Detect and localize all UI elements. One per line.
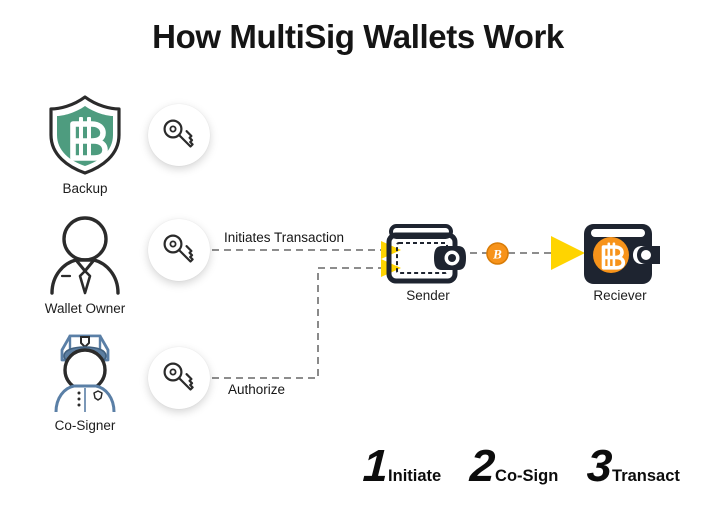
node-sender-label: Sender xyxy=(386,288,470,303)
person-icon xyxy=(26,213,144,297)
wire-authorize xyxy=(212,268,381,378)
actor-backup: Backup xyxy=(26,93,144,196)
step-2-number: 2 xyxy=(469,443,495,488)
steps-legend: 1 Initiate 2 Co-Sign 3 Transact xyxy=(355,443,695,499)
step-2-label: Co-Sign xyxy=(495,467,558,486)
node-receiver xyxy=(580,222,660,293)
key-badge-wallet-owner xyxy=(148,219,210,281)
infographic-canvas: How MultiSig Wallets Work xyxy=(0,0,716,519)
step-3-number: 3 xyxy=(586,443,612,488)
actor-co-signer: Co-Signer xyxy=(26,330,144,433)
connection-label-initiates: Initiates Transaction xyxy=(224,230,344,245)
node-coin: B xyxy=(486,242,509,270)
step-3: 3 Transact xyxy=(587,443,680,488)
key-badge-backup xyxy=(148,104,210,166)
officer-icon xyxy=(26,330,144,414)
shield-bitcoin-icon xyxy=(26,93,144,177)
actor-backup-label: Backup xyxy=(26,181,144,196)
step-3-label: Transact xyxy=(612,467,680,486)
connection-label-authorize: Authorize xyxy=(228,382,285,397)
node-sender xyxy=(386,224,470,291)
wallet-filled-bitcoin-icon xyxy=(580,222,660,288)
wallet-outline-icon xyxy=(386,224,470,286)
key-icon xyxy=(159,358,199,398)
step-1-label: Initiate xyxy=(388,467,441,486)
key-icon xyxy=(159,230,199,270)
page-title: How MultiSig Wallets Work xyxy=(0,18,716,56)
key-icon xyxy=(159,115,199,155)
step-1-number: 1 xyxy=(362,443,388,488)
bitcoin-coin-icon: B xyxy=(486,242,509,265)
step-2: 2 Co-Sign xyxy=(470,443,558,488)
svg-text:B: B xyxy=(492,247,502,262)
step-1: 1 Initiate xyxy=(363,443,441,488)
actor-co-signer-label: Co-Signer xyxy=(26,418,144,433)
actor-wallet-owner: Wallet Owner xyxy=(26,213,144,316)
actor-wallet-owner-label: Wallet Owner xyxy=(26,301,144,316)
key-badge-co-signer xyxy=(148,347,210,409)
node-receiver-label: Reciever xyxy=(578,288,662,303)
